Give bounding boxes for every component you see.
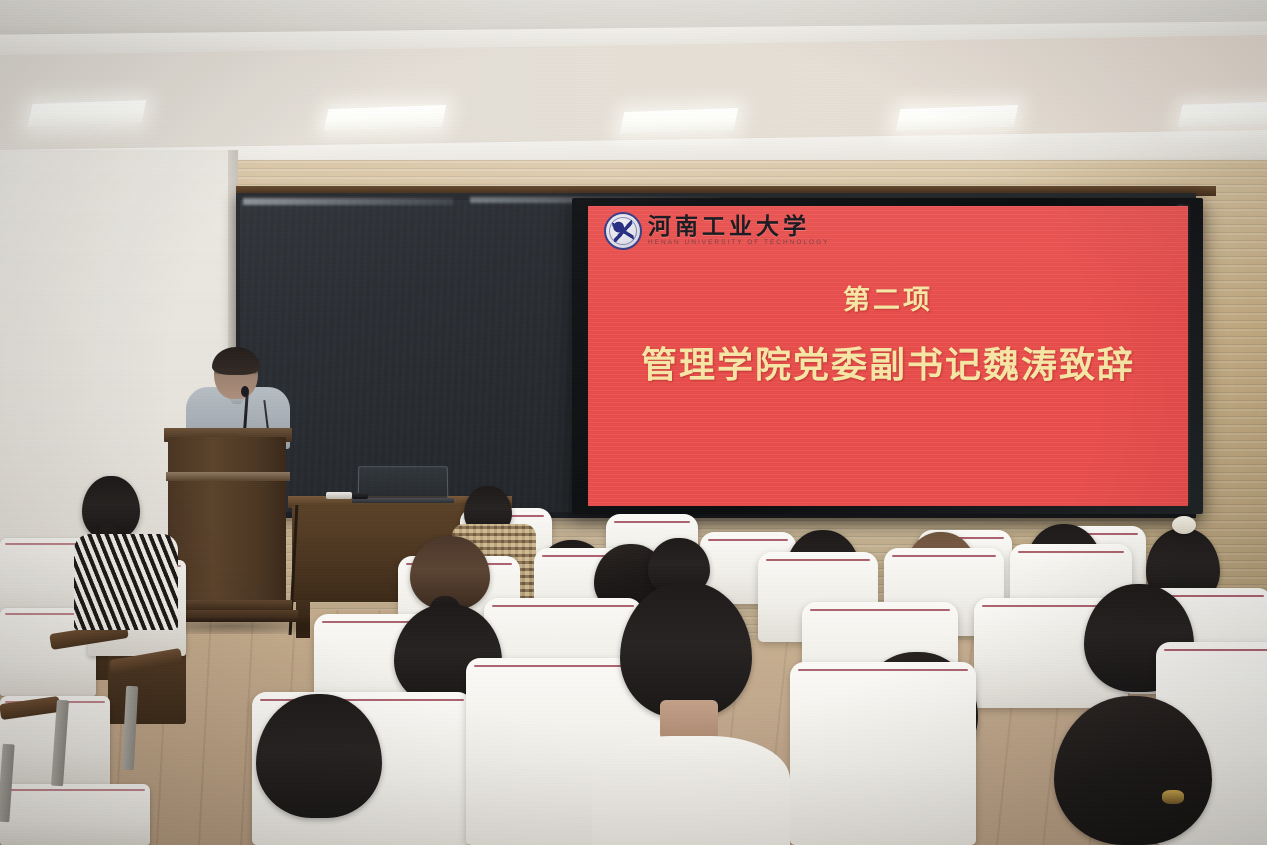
ceiling-light-panel-5 xyxy=(1178,101,1267,127)
slide-agenda-item-title: 管理学院党委副书记魏涛致辞 xyxy=(588,336,1188,388)
university-name-english: HENAN UNIVERSITY OF TECHNOLOGY xyxy=(648,240,829,247)
laptop-base xyxy=(352,498,454,503)
auditorium-photo: 河南工业大学 HENAN UNIVERSITY OF TECHNOLOGY 第二… xyxy=(0,0,1267,845)
desk-small-device[interactable] xyxy=(352,493,368,499)
ceiling-light-panel-2 xyxy=(324,105,447,131)
audience-chair-front-3[interactable] xyxy=(790,662,976,845)
university-name-chinese: 河南工业大学 xyxy=(648,215,829,238)
laptop-screen[interactable] xyxy=(358,466,449,500)
presentation-screen[interactable]: 河南工业大学 HENAN UNIVERSITY OF TECHNOLOGY 第二… xyxy=(588,206,1188,506)
ceiling-light-panel-1 xyxy=(28,100,147,127)
emblem-calligraphy-mark xyxy=(612,220,634,242)
attendee-striped-shirt xyxy=(74,534,178,630)
attendee-shoulders-front-2 xyxy=(592,736,790,845)
ceiling-light-panel-3 xyxy=(620,108,739,134)
slide-agenda-item-number: 第二项 xyxy=(588,278,1188,317)
microphone-capsule-icon xyxy=(241,386,249,397)
empty-seat-left-5[interactable] xyxy=(0,784,150,845)
blackboard-surface xyxy=(240,200,590,512)
ceiling-light-panel-4 xyxy=(896,105,1019,131)
logo-text-block: 河南工业大学 HENAN UNIVERSITY OF TECHNOLOGY xyxy=(648,215,829,247)
attendee-neck-front-2 xyxy=(660,700,718,740)
speaker-glasses-icon xyxy=(218,372,256,379)
attendee-head-front-2 xyxy=(620,582,752,718)
presenter-remote[interactable] xyxy=(326,492,352,499)
hair-clip-icon xyxy=(1162,790,1184,804)
attendee-head-front-3 xyxy=(1054,696,1212,845)
podium-front-lip xyxy=(166,472,290,481)
attendee-head-front-1 xyxy=(256,694,382,818)
university-emblem-icon xyxy=(604,212,642,250)
slide-logo-lockup: 河南工业大学 HENAN UNIVERSITY OF TECHNOLOGY xyxy=(604,212,829,250)
blackboard-glare-1 xyxy=(243,198,453,205)
hair-scrunchie-icon xyxy=(1172,516,1196,534)
